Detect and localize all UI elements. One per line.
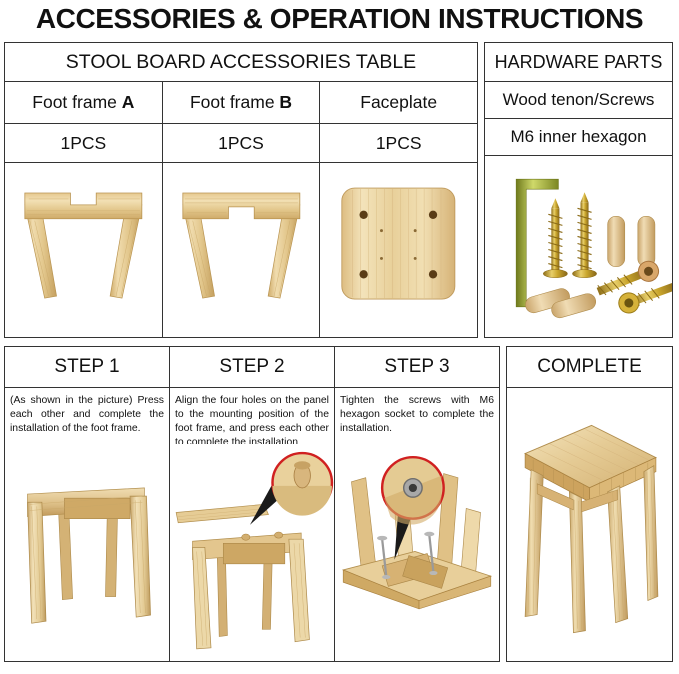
accessories-quantity-row: 1PCS 1PCS 1PCS bbox=[5, 124, 477, 163]
accessories-picture-row bbox=[5, 163, 477, 337]
foot-frame-b-illustration bbox=[163, 163, 320, 337]
step2-panel-alignment-illustration bbox=[170, 444, 334, 661]
cell-foot-frame-b bbox=[163, 163, 321, 337]
header-foot-frame-b-letter: B bbox=[279, 92, 292, 112]
steps-section: STEP 1 (As shown in the picture) Press e… bbox=[4, 346, 675, 662]
step-1-text: (As shown in the picture) Press each oth… bbox=[5, 388, 169, 444]
step-1: STEP 1 (As shown in the picture) Press e… bbox=[5, 347, 170, 661]
hardware-table: HARDWARE PARTS Wood tenon/Screws M6 inne… bbox=[484, 42, 673, 338]
complete-art-cell bbox=[507, 388, 672, 661]
hardware-parts-illustration bbox=[485, 156, 672, 337]
step-3-text: Tighten the screws with M6 hexagon socke… bbox=[335, 388, 499, 444]
accessories-table-caption: STOOL BOARD ACCESSORIES TABLE bbox=[5, 43, 477, 82]
header-foot-frame-b-text: Foot frame bbox=[190, 92, 279, 112]
qty-foot-frame-a: 1PCS bbox=[5, 124, 163, 162]
hardware-art-cell bbox=[485, 156, 672, 337]
step-3-heading: STEP 3 bbox=[335, 347, 499, 388]
hardware-table-caption: HARDWARE PARTS bbox=[485, 43, 672, 82]
cell-faceplate bbox=[320, 163, 477, 337]
header-faceplate: Faceplate bbox=[320, 82, 477, 123]
page-title: ACCESSORIES & OPERATION INSTRUCTIONS bbox=[4, 0, 675, 36]
accessories-header-row: Foot frame A Foot frame B Faceplate bbox=[5, 82, 477, 124]
cell-foot-frame-a bbox=[5, 163, 163, 337]
step-2-art-cell bbox=[170, 444, 334, 661]
step-1-heading: STEP 1 bbox=[5, 347, 169, 388]
parts-section: STOOL BOARD ACCESSORIES TABLE Foot frame… bbox=[4, 42, 675, 338]
step-2-heading: STEP 2 bbox=[170, 347, 334, 388]
hardware-line-wood-tenon-screws: Wood tenon/Screws bbox=[485, 82, 672, 119]
step-2: STEP 2 Align the four holes on the panel… bbox=[170, 347, 335, 661]
step-1-art-cell bbox=[5, 444, 169, 661]
step1-foot-frame-assembled-illustration bbox=[5, 444, 169, 661]
hardware-line-m6-inner-hexagon: M6 inner hexagon bbox=[485, 119, 672, 156]
qty-foot-frame-b: 1PCS bbox=[163, 124, 321, 162]
foot-frame-a-illustration bbox=[5, 163, 162, 337]
step-3-art-cell bbox=[335, 444, 499, 661]
header-foot-frame-a-text: Foot frame bbox=[32, 92, 121, 112]
instruction-sheet: ACCESSORIES & OPERATION INSTRUCTIONS STO… bbox=[0, 0, 679, 674]
faceplate-illustration bbox=[320, 163, 477, 337]
finished-stool-illustration bbox=[507, 388, 672, 661]
complete-heading: COMPLETE bbox=[507, 347, 672, 388]
header-foot-frame-a: Foot frame A bbox=[5, 82, 163, 123]
step3-tighten-screws-illustration bbox=[335, 444, 499, 661]
header-foot-frame-a-letter: A bbox=[122, 92, 135, 112]
steps-table: STEP 1 (As shown in the picture) Press e… bbox=[4, 346, 500, 662]
header-foot-frame-b: Foot frame B bbox=[163, 82, 321, 123]
step-2-text: Align the four holes on the panel to the… bbox=[170, 388, 334, 444]
qty-faceplate: 1PCS bbox=[320, 124, 477, 162]
complete-panel: COMPLETE bbox=[506, 346, 673, 662]
step-3: STEP 3 Tighten the screws with M6 hexago… bbox=[335, 347, 499, 661]
accessories-table: STOOL BOARD ACCESSORIES TABLE Foot frame… bbox=[4, 42, 478, 338]
